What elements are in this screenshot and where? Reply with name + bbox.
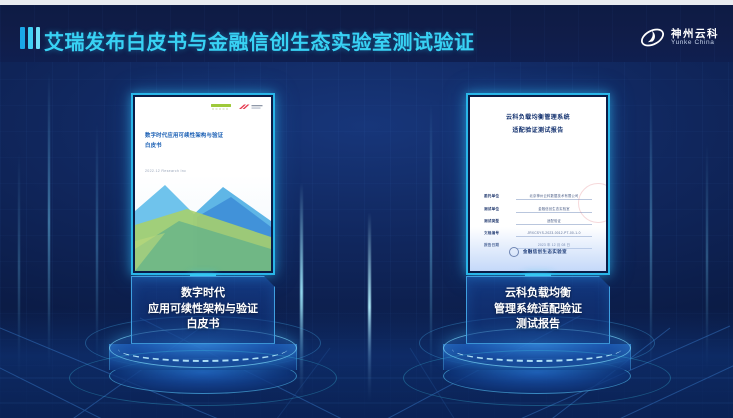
whitepaper-cover-title: 数字时代应用可续性架构与验证 白皮书 <box>145 131 261 151</box>
whitepaper-title-line1: 数字时代应用可续性架构与验证 <box>145 131 261 141</box>
report-cover-title: 云科负载均衡管理系统 适配验证测试报告 <box>470 112 606 137</box>
row-value: 适配验证 <box>516 218 592 225</box>
caption-line: 管理系统适配验证 <box>471 302 605 318</box>
caption-whitepaper: 数字时代 应用可续性架构与验证 白皮书 <box>131 276 275 344</box>
whitepaper-cover-card[interactable]: 数字时代应用可续性架构与验证 白皮书 2022.12 Research Inc <box>131 93 275 275</box>
caption-test-report: 云科负载均衡 管理系统适配验证 测试报告 <box>466 276 610 344</box>
top-strip <box>0 0 733 5</box>
logo-name-en: Yunke China <box>671 40 719 47</box>
report-footer-text: 金融信创生态实验室 <box>523 249 567 255</box>
stage-scene: 数字时代应用可续性架构与验证 白皮书 2022.12 Research Inc <box>0 62 733 418</box>
yunke-swoosh-icon <box>639 24 666 51</box>
cover-logos <box>210 103 264 112</box>
exhibit-whitepaper[interactable]: 数字时代应用可续性架构与验证 白皮书 2022.12 Research Inc <box>131 93 275 275</box>
slide-stage: 艾瑞发布白皮书与金融信创生态实验室测试验证 神州云科 Yunke China <box>0 0 733 418</box>
logo-name-cn: 神州云科 <box>671 29 719 40</box>
caption-line: 云科负载均衡 <box>471 286 605 302</box>
whitepaper-cover-subtitle: 2022.12 Research Inc <box>145 169 186 173</box>
report-page: 云科负载均衡管理系统 适配验证测试报告 委托单位 北京神州云科数据技术有限公司 … <box>470 97 606 271</box>
row-label: 委托单位 <box>484 194 510 199</box>
caption-line: 数字时代 <box>136 286 270 302</box>
podium-halo-floor <box>403 350 671 406</box>
table-row: 测试单位 金融信创生态实验室 <box>484 206 592 213</box>
brand-logo: 神州云科 Yunke China <box>639 24 719 51</box>
table-row: 测试类型 适配验证 <box>484 218 592 225</box>
caption-line: 测试报告 <box>471 317 605 333</box>
table-row: 委托单位 北京神州云科数据技术有限公司 <box>484 193 592 200</box>
row-label: 测试类型 <box>484 219 510 224</box>
exhibit-test-report[interactable]: 云科负载均衡管理系统 适配验证测试报告 委托单位 北京神州云科数据技术有限公司 … <box>466 93 610 275</box>
report-cover-card[interactable]: 云科负载均衡管理系统 适配验证测试报告 委托单位 北京神州云科数据技术有限公司 … <box>466 93 610 275</box>
lab-emblem-icon <box>509 247 519 257</box>
report-title-line1: 云科负载均衡管理系统 <box>470 112 606 125</box>
red-brand-logo-icon <box>238 103 264 112</box>
row-label: 测试单位 <box>484 207 510 212</box>
podium-halo-floor <box>69 350 337 406</box>
report-title-line2: 适配验证测试报告 <box>470 125 606 138</box>
green-brand-logo-icon <box>210 103 232 112</box>
page-title: 艾瑞发布白皮书与金融信创生态实验室测试验证 <box>44 26 475 55</box>
report-footer: 金融信创生态实验室 <box>470 247 606 257</box>
whitepaper-page: 数字时代应用可续性架构与验证 白皮书 2022.12 Research Inc <box>135 97 271 271</box>
slide-header: 艾瑞发布白皮书与金融信创生态实验室测试验证 神州云科 Yunke China <box>0 5 733 62</box>
caption-line: 应用可续性架构与验证 <box>136 302 270 318</box>
mountain-landscape-illustration <box>135 175 271 271</box>
three-bars-icon <box>20 27 40 49</box>
whitepaper-title-line2: 白皮书 <box>145 141 261 151</box>
caption-line: 白皮书 <box>136 317 270 333</box>
